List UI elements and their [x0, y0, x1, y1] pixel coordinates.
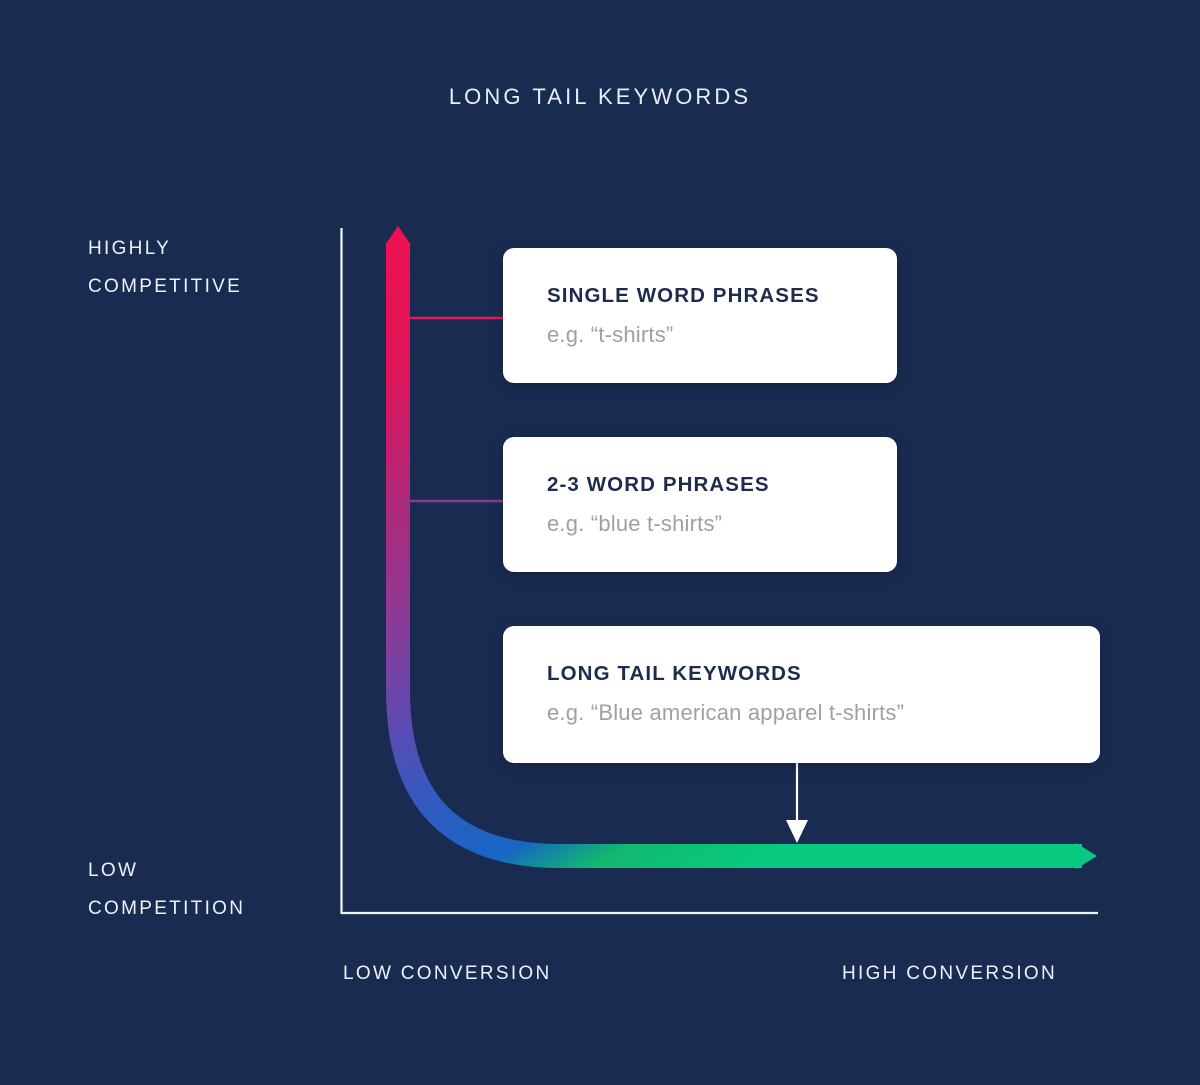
- connector-arrowhead-card-3: [786, 820, 808, 843]
- curve-right-arrowhead: [1076, 843, 1097, 869]
- card-title: SINGLE WORD PHRASES: [547, 284, 897, 308]
- card-example: e.g. “t-shirts”: [547, 322, 897, 348]
- card-long-tail-keywords[interactable]: LONG TAIL KEYWORDS e.g. “Blue american a…: [503, 626, 1100, 763]
- curve-top-arrowhead: [385, 226, 411, 245]
- card-single-word-phrases[interactable]: SINGLE WORD PHRASES e.g. “t-shirts”: [503, 248, 897, 383]
- card-example: e.g. “Blue american apparel t-shirts”: [547, 700, 1100, 726]
- card-title: LONG TAIL KEYWORDS: [547, 662, 1100, 686]
- card-example: e.g. “blue t-shirts”: [547, 511, 897, 537]
- infographic-canvas: LONG TAIL KEYWORDS HIGHLY COMPETITIVE LO…: [0, 0, 1200, 1085]
- card-title: 2-3 WORD PHRASES: [547, 473, 897, 497]
- card-2-3-word-phrases[interactable]: 2-3 WORD PHRASES e.g. “blue t-shirts”: [503, 437, 897, 572]
